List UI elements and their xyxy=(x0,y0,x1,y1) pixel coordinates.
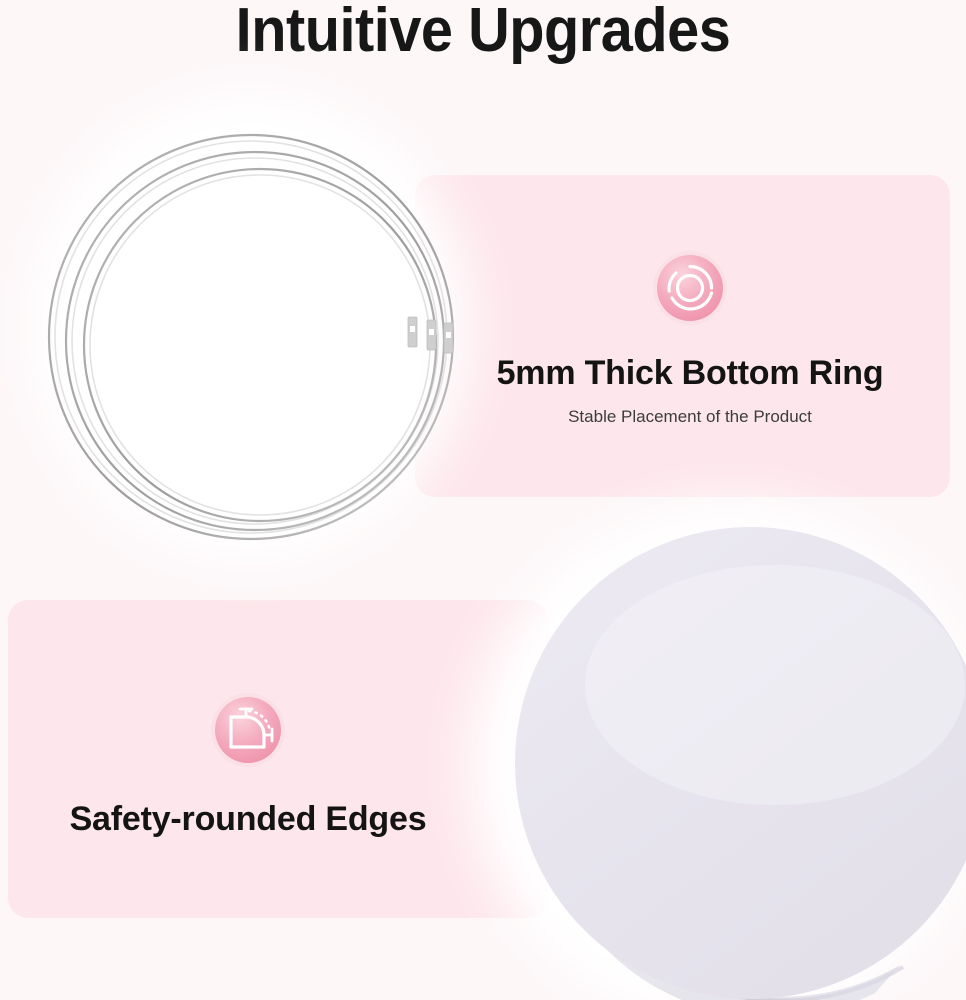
feature-safety-rounded-edges: Safety-rounded Edges xyxy=(18,692,478,839)
rounded-disc-photo xyxy=(455,495,966,1000)
feature-thick-bottom-ring: 5mm Thick Bottom Ring Stable Placement o… xyxy=(440,250,940,427)
feature-title: 5mm Thick Bottom Ring xyxy=(440,354,940,393)
ring-inner xyxy=(84,169,436,521)
page-title: Intuitive Upgrades xyxy=(34,0,932,63)
feature-subtitle: Stable Placement of the Product xyxy=(440,407,940,427)
ring-middle xyxy=(66,152,444,530)
concentric-rings-icon xyxy=(652,250,728,326)
ring-outer xyxy=(49,135,453,539)
rounded-corner-radius-icon xyxy=(210,692,286,768)
feature-title: Safety-rounded Edges xyxy=(18,800,478,839)
disc-highlight xyxy=(585,565,965,805)
stacked-rings-photo xyxy=(25,110,485,560)
product-feature-page: Intuitive Upgrades xyxy=(0,0,966,1000)
